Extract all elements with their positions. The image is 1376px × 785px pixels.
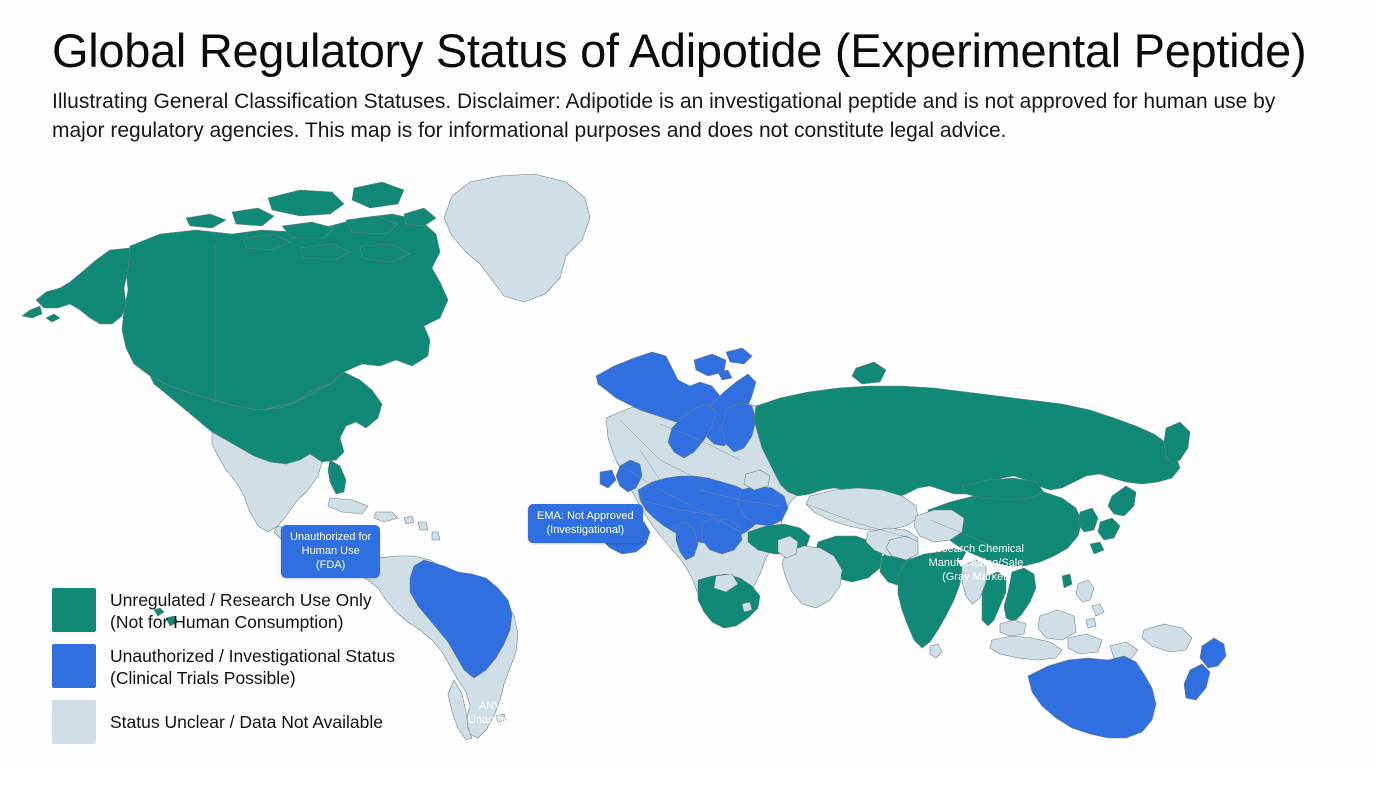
region-lesotho[interactable] — [742, 602, 752, 612]
region-russia[interactable] — [754, 386, 1180, 500]
legend-label-unauthorized-line2: (Clinical Trials Possible) — [110, 667, 395, 689]
legend-label-unclear: Status Unclear / Data Not Available — [110, 700, 383, 733]
callout-ema-line1: EMA: Not Approved — [537, 509, 634, 523]
region-koreas[interactable] — [1078, 508, 1098, 532]
region-borneo[interactable] — [1038, 610, 1076, 640]
region-greenland[interactable] — [444, 174, 590, 302]
legend-item-unauthorized[interactable]: Unauthorized / Investigational Status (C… — [52, 644, 482, 689]
region-philippines[interactable] — [1076, 580, 1104, 628]
legend-label-unauthorized: Unauthorized / Investigational Status (C… — [110, 644, 395, 689]
page-subtitle: Illustrating General Classification Stat… — [52, 88, 1297, 146]
map-page: Global Regulatory Status of Adipotide (E… — [0, 0, 1376, 768]
callout-tga-line1: TGA/Medsafe: — [1043, 757, 1114, 771]
region-caribbean-islands[interactable] — [404, 516, 440, 540]
callout-fda-line1: Unauthorized for — [290, 530, 371, 544]
callout-gray-market[interactable]: Research Chemical Manufacturing/Sale (Gr… — [928, 542, 1024, 584]
legend-label-unauthorized-line1: Unauthorized / Investigational Status — [110, 645, 395, 667]
callout-fda-line2: Human Use — [290, 544, 371, 558]
region-malaysia[interactable] — [1000, 620, 1026, 636]
callout-gray-line2: Manufacturing/Sale — [928, 556, 1024, 570]
legend-swatch-unclear — [52, 700, 96, 744]
callout-ema[interactable]: EMA: Not Approved (Investigational) — [528, 504, 643, 543]
region-sri-lanka[interactable] — [930, 644, 942, 658]
legend: Unregulated / Research Use Only (Not for… — [52, 588, 482, 744]
callout-gray-line3: (Gray Market) — [928, 570, 1024, 584]
legend-label-unclear-line1: Status Unclear / Data Not Available — [110, 711, 383, 733]
region-taiwan[interactable] — [1062, 574, 1072, 588]
page-title: Global Regulatory Status of Adipotide (E… — [52, 26, 1342, 75]
callout-gray-line1: Research Chemical — [928, 542, 1024, 556]
legend-label-unregulated: Unregulated / Research Use Only (Not for… — [110, 588, 372, 633]
callout-fda-line3: (FDA) — [290, 558, 371, 572]
callout-fda[interactable]: Unauthorized for Human Use (FDA) — [281, 525, 380, 578]
header: Global Regulatory Status of Adipotide (E… — [52, 26, 1342, 146]
legend-swatch-unregulated — [52, 588, 96, 632]
region-us-florida[interactable] — [328, 460, 346, 494]
legend-label-unregulated-line1: Unregulated / Research Use Only — [110, 589, 372, 611]
callout-ema-line2: (Investigational) — [537, 523, 634, 537]
legend-item-unregulated[interactable]: Unregulated / Research Use Only (Not for… — [52, 588, 482, 633]
region-australia[interactable] — [1028, 656, 1156, 738]
region-alaska[interactable] — [36, 248, 130, 324]
region-novaya-zemlya[interactable] — [852, 362, 886, 384]
callout-tga[interactable]: TGA/Medsafe: Unauthorized — [1043, 757, 1114, 785]
legend-item-unclear[interactable]: Status Unclear / Data Not Available — [52, 700, 482, 744]
region-kamchatka[interactable] — [1164, 422, 1190, 464]
callout-tga-line2: Unauthorized — [1043, 771, 1114, 785]
region-papua-new-guinea[interactable] — [1142, 624, 1192, 652]
region-hispaniola[interactable] — [374, 512, 398, 522]
region-new-zealand[interactable] — [1184, 638, 1226, 700]
legend-label-unregulated-line2: (Not for Human Consumption) — [110, 611, 372, 633]
region-cuba[interactable] — [328, 498, 368, 514]
region-aleutians[interactable] — [22, 306, 60, 322]
legend-swatch-unauthorized — [52, 644, 96, 688]
